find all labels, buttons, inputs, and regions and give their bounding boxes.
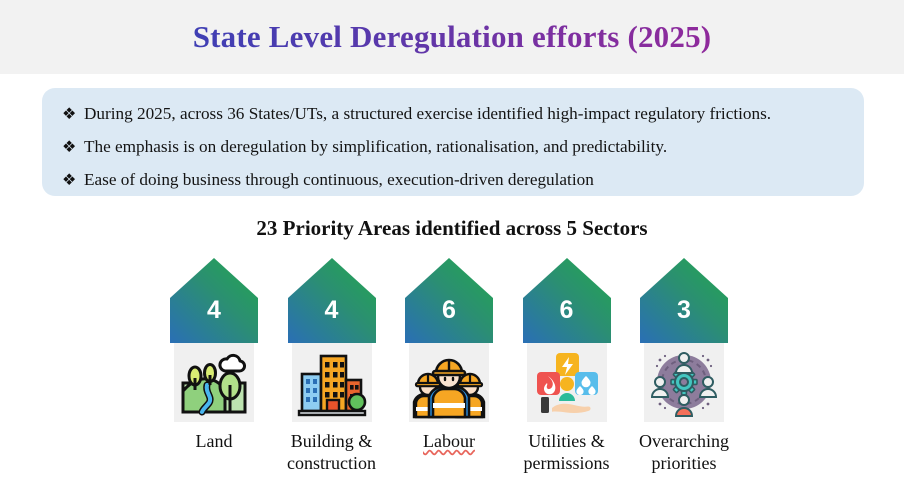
icon-tile-building [292,342,372,422]
priority-count-land: 4 [170,298,258,323]
pillar-label-building: Building & construction [274,430,390,474]
collaboration-gear-icon [647,345,721,419]
priority-count-labour: 6 [405,298,493,323]
priority-count-overarching: 3 [640,298,728,323]
bullet-item: ❖ Ease of doing business through continu… [62,168,844,192]
diamond-bullet-icon: ❖ [62,102,84,126]
bullet-text: The emphasis is on deregulation by simpl… [84,135,667,159]
utilities-icon [530,345,604,419]
sector-pillar-land: 4 Lan [166,258,262,452]
pillar-label-land: Land [156,430,272,452]
sector-pillar-overarching: 3 [636,258,732,474]
icon-tile-overarching [644,342,724,422]
pillar-label-overarching: Overarching priorities [626,430,742,474]
diamond-bullet-icon: ❖ [62,135,84,159]
section-subtitle: 23 Priority Areas identified across 5 Se… [0,216,904,241]
house-shape-labour: 6 [405,258,493,343]
landscape-icon [177,345,251,419]
bullet-item: ❖ The emphasis is on deregulation by sim… [62,135,844,159]
bullet-item: ❖ During 2025, across 36 States/UTs, a s… [62,102,844,126]
sector-pillar-building: 4 [284,258,380,474]
bullet-text: During 2025, across 36 States/UTs, a str… [84,102,771,126]
construction-workers-icon [412,345,486,419]
icon-tile-labour [409,342,489,422]
diamond-bullet-icon: ❖ [62,168,84,192]
buildings-icon [295,345,369,419]
sector-pillar-utilities: 6 [519,258,615,474]
bullet-text: Ease of doing business through continuou… [84,168,594,192]
house-shape-overarching: 3 [640,258,728,343]
pillar-label-utilities: Utilities & permissions [509,430,625,474]
icon-tile-utilities [527,342,607,422]
pillar-label-labour: Labour [391,430,507,452]
header-band: State Level Deregulation efforts (2025) [0,0,904,74]
house-shape-building: 4 [288,258,376,343]
house-shape-land: 4 [170,258,258,343]
summary-bullet-panel: ❖ During 2025, across 36 States/UTs, a s… [42,88,864,196]
sector-pillar-row: 4 Lan [166,258,732,474]
priority-count-building: 4 [288,298,376,323]
sector-pillar-labour: 6 [401,258,497,452]
priority-count-utilities: 6 [523,298,611,323]
house-shape-utilities: 6 [523,258,611,343]
icon-tile-land [174,342,254,422]
page-title: State Level Deregulation efforts (2025) [193,19,712,55]
